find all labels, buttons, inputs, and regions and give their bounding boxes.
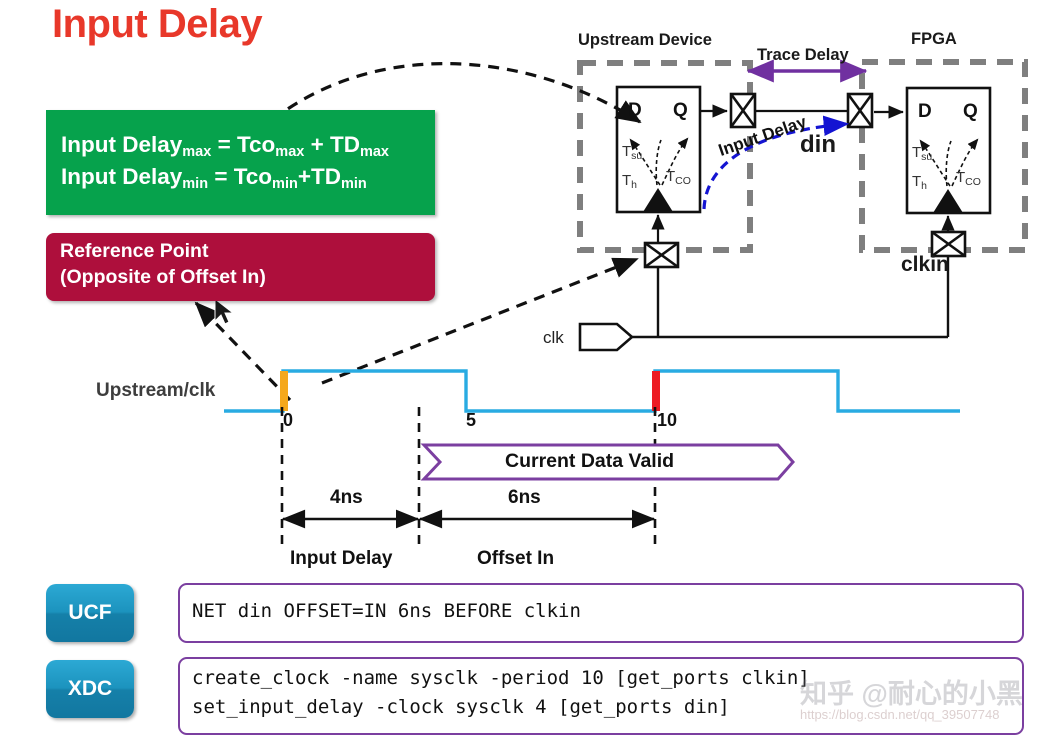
fpga-label: FPGA xyxy=(911,30,957,49)
th-base: T xyxy=(622,172,631,189)
formula-min-rhs-sub1: min xyxy=(272,176,298,192)
tsu-base: T xyxy=(622,143,631,160)
tco-sub: CO xyxy=(675,175,691,187)
formula-max-op2: + TD xyxy=(304,132,360,157)
ucf-badge[interactable]: UCF xyxy=(46,584,134,642)
dim-value-input-delay: 4ns xyxy=(330,487,363,509)
formula-max-rhs-sub1: max xyxy=(275,144,304,160)
upstream-ff-th-label: Th xyxy=(622,172,637,189)
fpga-ff-tco-label: TCO xyxy=(956,169,981,186)
reference-point-box: Reference Point (Opposite of Offset In) xyxy=(46,233,435,301)
upstream-ff-tco-label: TCO xyxy=(666,168,691,185)
formula-min-lhs-sub: min xyxy=(182,176,208,192)
fpga-ff-th-label: Th xyxy=(912,173,927,190)
formula-line-min: Input Delaymin = Tcomin+TDmin xyxy=(61,164,367,190)
tsu-base: T xyxy=(912,144,921,161)
clk-label: clk xyxy=(543,328,564,348)
upstream-ff-tsu-label: Tsu xyxy=(622,143,642,160)
dim-label-input-delay: Input Delay xyxy=(290,548,392,570)
ucf-constraint-box[interactable]: NET din OFFSET=IN 6ns BEFORE clkin xyxy=(178,583,1024,643)
fpga-ff-q-pin: Q xyxy=(963,101,978,123)
dim-value-offset-in: 6ns xyxy=(508,487,541,509)
tick-label-0: 0 xyxy=(283,410,293,431)
ucf-constraint-line: NET din OFFSET=IN 6ns BEFORE clkin xyxy=(192,600,581,622)
formula-max-lhs-sub: max xyxy=(182,144,211,160)
upstream-output-pad-buffer xyxy=(731,94,755,127)
tsu-sub: su xyxy=(921,151,932,163)
upstream-ff-d-pin: D xyxy=(628,100,642,122)
th-sub: h xyxy=(921,180,927,192)
fpga-input-pad-buffer xyxy=(848,94,872,127)
formula-line-max: Input Delaymax = Tcomax + TDmax xyxy=(61,132,389,158)
trace-delay-label: Trace Delay xyxy=(757,46,849,65)
formula-box: Input Delaymax = Tcomax + TDmax Input De… xyxy=(46,110,435,215)
din-label: din xyxy=(800,131,836,159)
tco-sub: CO xyxy=(965,176,981,188)
formula-max-lhs: Input Delay xyxy=(61,132,182,157)
formula-min-rhs-sub2: min xyxy=(341,176,367,192)
fpga-ff-tsu-label: Tsu xyxy=(912,144,932,161)
tick-label-10: 10 xyxy=(657,410,677,431)
upstream-clock-pad-buffer xyxy=(645,243,678,267)
slide-canvas: Input Delay Input Delaymax = Tcomax + TD… xyxy=(0,0,1055,740)
watermark-text: 知乎 @耐心的小黑 xyxy=(800,672,1023,711)
clkin-label: clkin xyxy=(901,253,949,277)
upstream-ff-q-pin: Q xyxy=(673,100,688,122)
data-valid-label: Current Data Valid xyxy=(505,450,674,473)
th-base: T xyxy=(912,173,921,190)
page-title: Input Delay xyxy=(52,2,262,47)
xdc-badge[interactable]: XDC xyxy=(46,660,134,718)
mouse-cursor xyxy=(215,299,233,324)
clk-source-port xyxy=(580,324,632,350)
xdc-constraint-line-1: create_clock -name sysclk -period 10 [ge… xyxy=(192,667,810,689)
formula-max-op1: = Tco xyxy=(211,132,275,157)
clock-waveform xyxy=(224,371,960,411)
waveform-signal-label: Upstream/clk xyxy=(96,380,215,402)
watermark-url: https://blog.csdn.net/qq_39507748 xyxy=(800,707,1000,722)
tick-label-5: 5 xyxy=(466,410,476,431)
tco-base: T xyxy=(956,169,965,186)
formula-max-rhs-sub2: max xyxy=(360,144,389,160)
dim-label-offset-in: Offset In xyxy=(477,548,554,570)
upstream-device-label: Upstream Device xyxy=(578,31,712,50)
tsu-sub: su xyxy=(631,150,642,162)
formula-min-op1: = Tco xyxy=(208,164,272,189)
th-sub: h xyxy=(631,179,637,191)
reference-line-1: Reference Point xyxy=(60,240,208,263)
reference-line-2: (Opposite of Offset In) xyxy=(60,266,266,289)
tco-base: T xyxy=(666,168,675,185)
fpga-ff-d-pin: D xyxy=(918,101,932,123)
xdc-constraint-line-2: set_input_delay -clock sysclk 4 [get_por… xyxy=(192,696,730,718)
formula-min-lhs: Input Delay xyxy=(61,164,182,189)
formula-min-op2: +TD xyxy=(298,164,341,189)
